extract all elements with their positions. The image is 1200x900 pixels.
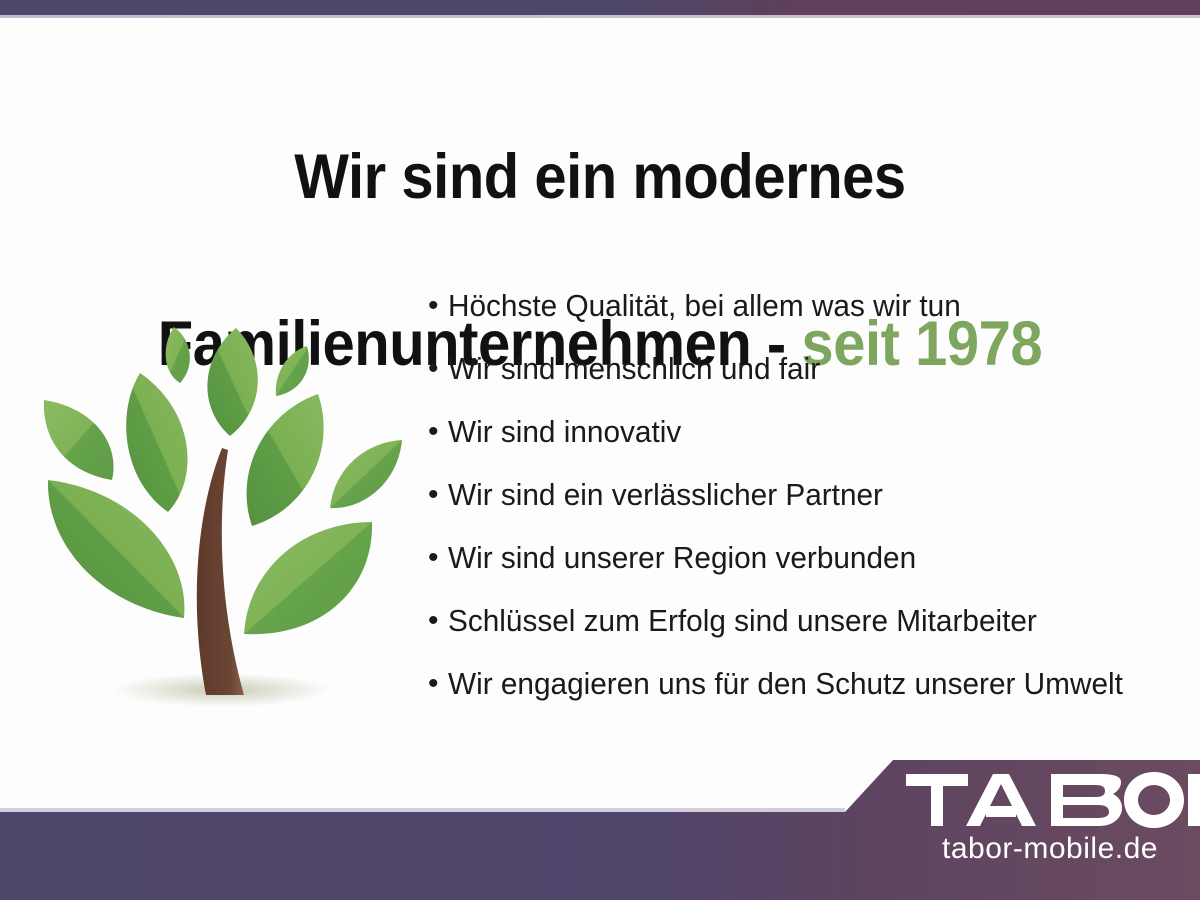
bullet-marker-icon: •: [428, 664, 448, 704]
slide-canvas: Wir sind ein modernes Familienunternehme…: [0, 0, 1200, 900]
tree-trunk: [197, 448, 244, 695]
bullet-marker-icon: •: [428, 475, 448, 515]
bullet-marker-icon: •: [428, 601, 448, 641]
leaf-top-small-right: [276, 346, 309, 396]
page-title-line-1: Wir sind ein modernes: [103, 136, 1097, 220]
list-item-label: Höchste Qualität, bei allem was wir tun: [448, 286, 961, 326]
list-item-label: Schlüssel zum Erfolg sind unsere Mitarbe…: [448, 601, 1037, 641]
list-item: • Wir sind ein verlässlicher Partner: [428, 475, 1188, 538]
list-item: • Wir sind innovativ: [428, 412, 1188, 475]
leaf-top-small-left: [166, 327, 190, 383]
list-item-label: Wir sind unserer Region verbunden: [448, 538, 916, 578]
list-item-label: Wir sind innovativ: [448, 412, 681, 452]
leaf-lower-right: [244, 522, 372, 634]
bullet-marker-icon: •: [428, 412, 448, 452]
list-item-label: Wir engagieren uns für den Schutz unsere…: [448, 664, 1123, 704]
tabor-wordmark-icon: [900, 772, 1200, 828]
footer-bar-highlight: [0, 808, 845, 812]
top-accent-bar-highlight: [0, 15, 1200, 18]
leaf-upper-right: [247, 394, 324, 526]
list-item: • Schlüssel zum Erfolg sind unsere Mitar…: [428, 601, 1188, 664]
leaf-mid-right-small: [330, 440, 402, 508]
brand-domain-label: tabor-mobile.de: [900, 832, 1200, 866]
leaf-mid-left-small: [44, 400, 114, 480]
brand-logo[interactable]: tabor-mobile.de: [900, 772, 1200, 866]
list-item: • Wir sind menschlich und fair: [428, 349, 1188, 412]
leaf-top-center: [207, 328, 257, 436]
bullet-marker-icon: •: [428, 349, 448, 389]
top-accent-bar: [0, 0, 1200, 15]
list-item: • Höchste Qualität, bei allem was wir tu…: [428, 286, 1188, 349]
tree-logo: [22, 300, 422, 720]
list-item: • Wir sind unserer Region verbunden: [428, 538, 1188, 601]
list-item-label: Wir sind ein verlässlicher Partner: [448, 475, 883, 515]
list-item-label: Wir sind menschlich und fair: [448, 349, 820, 389]
bullet-marker-icon: •: [428, 538, 448, 578]
leaf-upper-left: [126, 373, 187, 512]
bullet-marker-icon: •: [428, 286, 448, 326]
bullet-list: • Höchste Qualität, bei allem was wir tu…: [428, 286, 1188, 727]
list-item: • Wir engagieren uns für den Schutz unse…: [428, 664, 1188, 727]
